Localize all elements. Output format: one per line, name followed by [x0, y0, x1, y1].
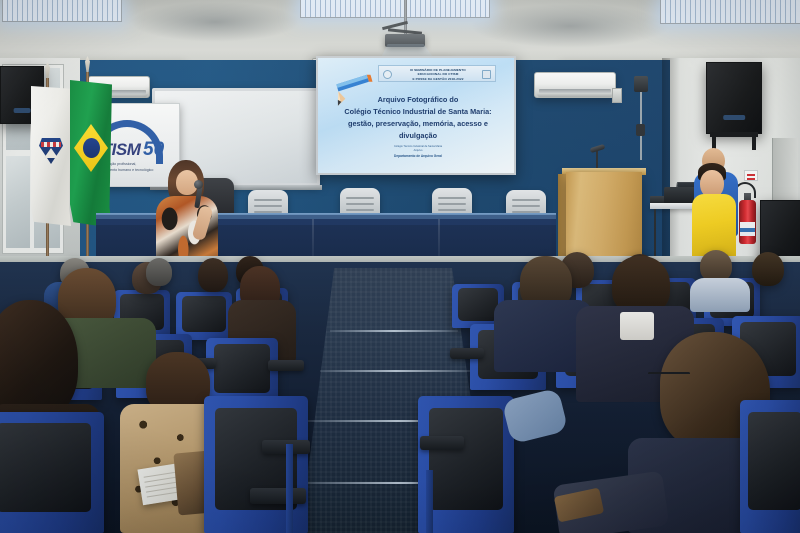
slide-title-line-1: Arquivo Fotográfico do [332, 94, 504, 106]
auditorium-seat[interactable] [206, 338, 278, 404]
ceiling-stain [130, 2, 300, 42]
slide-title-line-2: Colégio Técnico Industrial de Santa Mari… [332, 106, 504, 118]
institution-logo-icon [482, 70, 491, 79]
slide-title-line-4: divulgação [332, 130, 504, 142]
audience-head [146, 258, 172, 286]
fire-extinguisher-sign [744, 170, 758, 181]
audience-torso [690, 278, 750, 312]
ceiling-light-panel [660, 0, 800, 24]
slide-header-banner: III SEMINÁRIO DE PLANEJAMENTO EDUCACIONA… [378, 65, 496, 82]
ceiling-light-panel [300, 0, 490, 18]
presentation-slide: III SEMINÁRIO DE PLANEJAMENTO EDUCACIONA… [318, 58, 514, 173]
fire-extinguisher-label [740, 222, 755, 236]
slide-title: Arquivo Fotográfico do Colégio Técnico I… [332, 94, 504, 142]
handheld-microphone-icon [194, 180, 203, 189]
seminar-logo-icon [383, 70, 392, 79]
audience-head [752, 252, 784, 286]
brazil-flag-globe [83, 138, 100, 158]
seat-armrest [420, 436, 464, 450]
step-edge [330, 330, 458, 332]
seat-armrest [250, 488, 306, 504]
slide-title-line-3: gestão, preservação, memória, acesso e [332, 118, 504, 130]
brazil-flag [70, 80, 112, 228]
eyeglasses-icon [648, 372, 690, 375]
loudspeaker-icon [706, 62, 762, 134]
ac-control-box [612, 88, 622, 103]
wall-corner-shadow [662, 58, 680, 273]
seat-post [286, 444, 293, 533]
speaker-bracket [752, 136, 756, 150]
slide-header-text: III SEMINÁRIO DE PLANEJAMENTO EDUCACIONA… [396, 68, 480, 81]
auditorium-seat[interactable] [740, 400, 800, 533]
slide-footer: Colégio Técnico Industrial de Santa Mari… [348, 145, 488, 159]
speaker-bracket [710, 132, 758, 137]
slide-header-line-3: E POSSE DA GESTÃO 2018-2022 [396, 77, 480, 81]
air-conditioner-icon [534, 72, 616, 98]
audience-head [198, 258, 228, 292]
audience-shirt-collar [620, 312, 654, 340]
auditorium-seat[interactable] [176, 292, 232, 340]
seat-armrest [268, 360, 304, 371]
projection-screen: III SEMINÁRIO DE PLANEJAMENTO EDUCACIONA… [316, 56, 516, 175]
wall-av-box [634, 76, 648, 92]
auditorium-seat[interactable] [0, 412, 104, 533]
seat-armrest [450, 348, 484, 359]
seat-post [426, 470, 433, 533]
window-pane [6, 156, 30, 248]
ufsm-flag [31, 86, 71, 226]
ceiling-stain [470, 4, 670, 48]
crest-stripes [41, 142, 61, 147]
auditorium-photo: CTISM 50 Promover a educação profissiona… [0, 0, 800, 533]
banner-anniversary: 50 [143, 139, 164, 161]
ceiling-light-panel [2, 0, 122, 22]
wall-outlet [636, 124, 645, 136]
step-edge [320, 370, 472, 372]
slide-footer-department: Departamento de Arquivo Geral [348, 154, 488, 159]
projector-icon [385, 34, 425, 47]
